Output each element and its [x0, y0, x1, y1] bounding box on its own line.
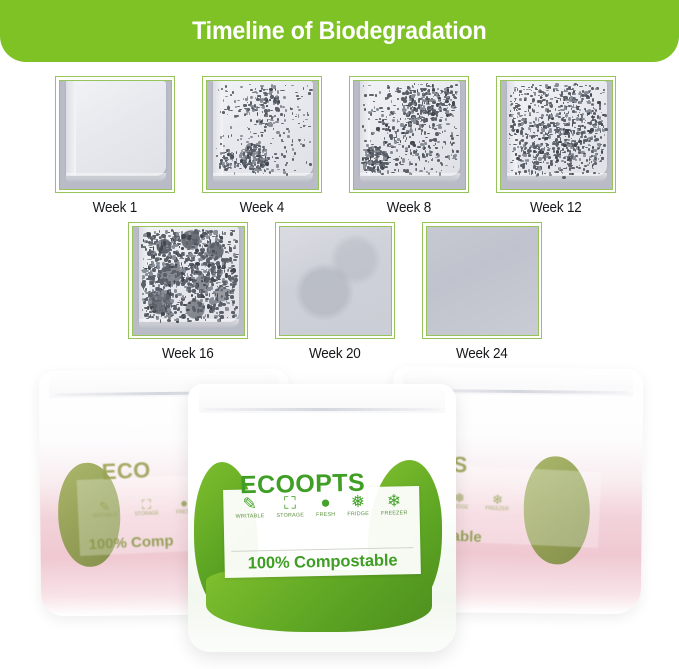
brand-text-left: ECO	[101, 457, 151, 485]
tagline-center: 100% Compostable	[224, 551, 420, 574]
feature-label: FREEZER	[485, 505, 509, 512]
product-infographic-page: Timeline of Biodegradation Week 1	[0, 0, 679, 669]
timeline-cell-week-12[interactable]: Week 12	[496, 76, 616, 216]
thumbnail-frame	[349, 76, 469, 193]
thumbnail-frame	[275, 222, 395, 339]
thumbnail-frame-inner	[426, 226, 539, 336]
thumbnail-frame-inner	[206, 80, 319, 190]
timeline-cell-week-4[interactable]: Week 4	[202, 76, 322, 216]
timeline-label: Week 24	[456, 346, 508, 362]
timeline-label: Week 16	[162, 346, 214, 362]
timeline-cell-week-20[interactable]: Week 20	[275, 222, 395, 362]
timeline-label: Week 12	[530, 200, 582, 216]
feature-label: FRIDGE	[347, 511, 369, 517]
freezer-snowflake-icon: ❄	[387, 492, 402, 509]
freezer-snowflake-icon: ❄	[492, 493, 503, 506]
timeline-label: Week 4	[240, 200, 284, 216]
page-title: Timeline of Biodegradation	[192, 17, 486, 46]
thumbnail-frame-inner	[279, 226, 392, 336]
thumbnail-frame-inner	[353, 80, 466, 190]
feature-label: STORAGE	[135, 510, 160, 517]
feature-label: WRITABLE	[236, 513, 265, 520]
leaf-swoosh-bottom-icon	[206, 570, 432, 632]
feature-freezer-icon: ❄ FREEZER	[485, 492, 509, 512]
fresh-apple-icon: ●	[180, 496, 188, 509]
timeline-label: Week 8	[387, 200, 431, 216]
thumbnail-frame-inner	[132, 226, 245, 336]
timeline-row-2: Week 16 Week 20 Wee	[128, 222, 542, 362]
timeline-label: Week 1	[93, 200, 137, 216]
thumbnail-frame	[202, 76, 322, 193]
degradation-photo-week-1	[60, 81, 171, 189]
timeline-cell-week-1[interactable]: Week 1	[55, 76, 175, 216]
degradation-photo-week-12	[501, 81, 612, 189]
feature-label: FREEZER	[381, 510, 408, 517]
degradation-photo-week-16	[133, 227, 244, 335]
timeline-cell-week-16[interactable]: Week 16	[128, 222, 248, 362]
product-photo: ECO ✎ WRITABLE ⛶ STORAGE ● FRESH 100% Co…	[0, 362, 679, 669]
thumbnail-frame	[55, 76, 175, 193]
degradation-photo-week-20	[280, 227, 391, 335]
thumbnail-frame	[422, 222, 542, 339]
product-bag-center: ECOOPTS ✎ WRITABLE ⛶ STORAGE ● FRESH	[188, 384, 456, 652]
feature-label: FRESH	[316, 512, 335, 518]
thumbnail-frame	[128, 222, 248, 339]
feature-writable-icon: ✎ WRITABLE	[92, 499, 118, 519]
thumbnail-frame	[496, 76, 616, 193]
storage-box-icon: ⛶	[142, 498, 152, 511]
thumbnail-frame-inner	[500, 80, 613, 190]
feature-freezer-icon: ❄ FREEZER	[381, 492, 408, 517]
timeline-cell-week-24[interactable]: Week 24	[422, 222, 542, 362]
timeline-label: Week 20	[309, 346, 361, 362]
brand-text-center: ECOOPTS	[240, 469, 366, 501]
timeline-cell-week-8[interactable]: Week 8	[349, 76, 469, 216]
feature-label: WRITABLE	[92, 512, 117, 519]
degradation-photo-week-24	[427, 227, 538, 335]
header-banner: Timeline of Biodegradation	[0, 0, 679, 62]
degradation-photo-week-8	[354, 81, 465, 189]
feature-storage-icon: ⛶ STORAGE	[134, 498, 159, 518]
degradation-photo-week-4	[207, 81, 318, 189]
timeline-row-1: Week 1 Week 4	[55, 76, 616, 216]
thumbnail-frame-inner	[59, 80, 172, 190]
feature-label: STORAGE	[276, 512, 304, 519]
writable-pencil-icon: ✎	[99, 500, 110, 513]
